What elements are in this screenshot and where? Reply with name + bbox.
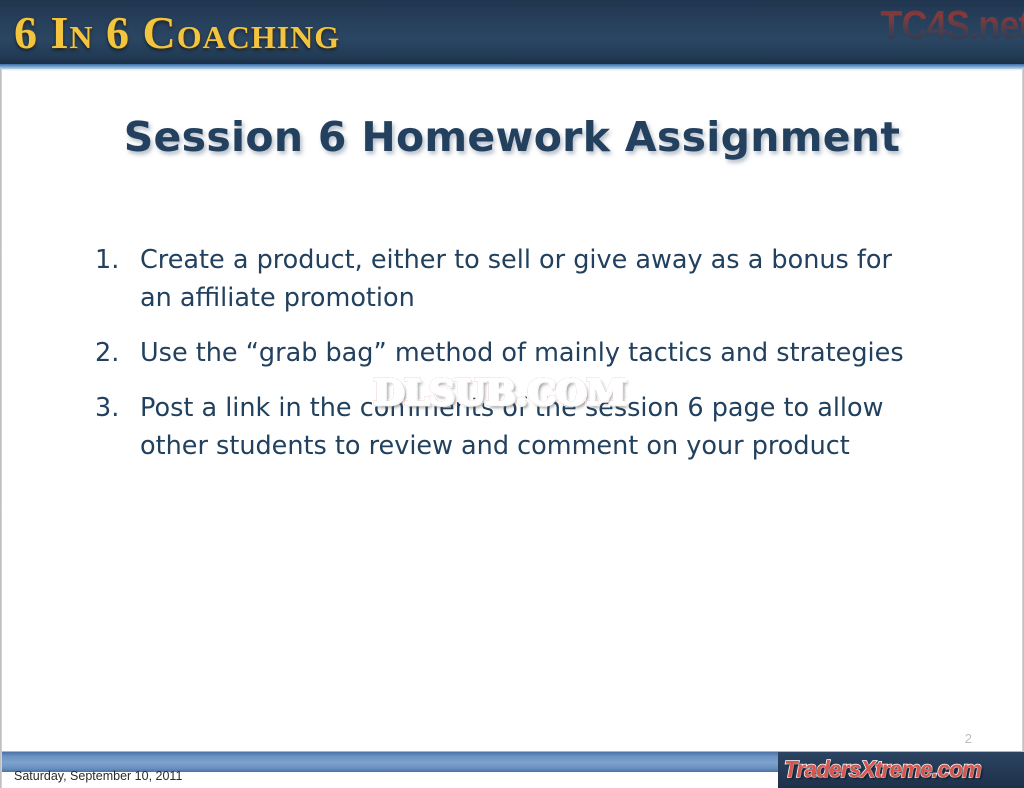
list-item-number: 3.	[95, 389, 140, 427]
footer-date: Saturday, September 10, 2011	[14, 769, 182, 783]
dlsub-watermark: DLSUB.COM	[373, 372, 625, 413]
list-item: 2. Use the “grab bag” method of mainly t…	[95, 334, 925, 372]
list-item-text: Use the “grab bag” method of mainly tact…	[140, 334, 925, 372]
tradersxtreme-logo-text: TradersXtreme.com	[784, 756, 981, 783]
slide-header-banner: 6 In 6 Coaching TC4S.net	[0, 0, 1024, 64]
list-item: 1. Create a product, either to sell or g…	[95, 241, 925, 317]
homework-list: 1. Create a product, either to sell or g…	[95, 241, 925, 482]
tc4s-site-logo: TC4S.net	[881, 2, 1024, 49]
list-item-number: 1.	[95, 241, 140, 279]
slide-title: Session 6 Homework Assignment	[2, 113, 1022, 161]
brand-title: 6 In 6 Coaching	[14, 6, 340, 59]
page-number: 2	[965, 731, 972, 746]
tradersxtreme-logo-box: TradersXtreme.com	[778, 752, 1024, 788]
list-item-text: Create a product, either to sell or give…	[140, 241, 925, 317]
list-item-number: 2.	[95, 334, 140, 372]
presentation-slide: 6 In 6 Coaching TC4S.net Session 6 Homew…	[0, 0, 1024, 788]
